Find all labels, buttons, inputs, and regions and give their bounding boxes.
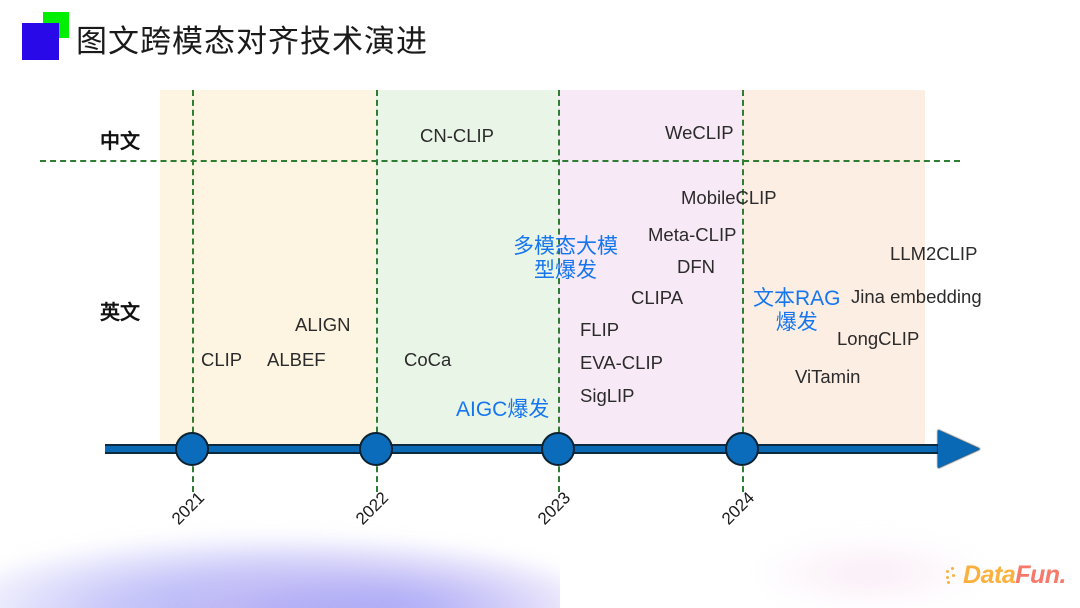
milestone-annotation: 多模态大模型爆发	[513, 235, 618, 282]
model-label: CoCa	[404, 351, 451, 370]
era-2024-plus	[742, 90, 925, 446]
model-label: CLIPA	[631, 289, 683, 308]
model-label: WeCLIP	[665, 124, 734, 143]
year-label-2023: 2023	[534, 488, 575, 529]
model-label: LongCLIP	[837, 330, 919, 349]
model-label: LLM2CLIP	[890, 245, 977, 264]
model-label: Meta-CLIP	[648, 226, 736, 245]
decorative-gradient-wave	[0, 518, 560, 608]
brand-squares-logo	[18, 12, 76, 58]
datafun-logo: Data Fun.	[946, 561, 1066, 590]
milestone-annotation: AIGC爆发	[456, 398, 549, 422]
model-label: SigLIP	[580, 387, 635, 406]
timeline-node-2024[interactable]	[725, 432, 759, 466]
slide-canvas: 图文跨模态对齐技术演进 中文 英文 CN-CLIPWeCLIPCLIPALIGN…	[0, 0, 1080, 608]
model-label: CN-CLIP	[420, 127, 494, 146]
year-label-2022: 2022	[352, 488, 393, 529]
model-label: ViTamin	[795, 368, 860, 387]
model-label: ALBEF	[267, 351, 326, 370]
page-title: 图文跨模态对齐技术演进	[76, 16, 428, 61]
row-divider-line	[40, 160, 960, 162]
year-label-2024: 2024	[718, 488, 759, 529]
model-label: ALIGN	[295, 316, 351, 335]
timeline-node-2021[interactable]	[175, 432, 209, 466]
model-label: DFN	[677, 258, 715, 277]
datafun-fun-text: Fun.	[1015, 561, 1066, 590]
datafun-dots-icon	[946, 567, 962, 585]
datafun-data-text: Data	[963, 561, 1015, 590]
model-label: MobileCLIP	[681, 189, 777, 208]
model-label: CLIP	[201, 351, 242, 370]
timeline-axis	[105, 444, 943, 454]
model-label: Jina embedding	[851, 288, 982, 307]
timeline-node-2022[interactable]	[359, 432, 393, 466]
model-label: EVA-CLIP	[580, 354, 663, 373]
timeline-arrow-icon	[938, 430, 980, 468]
milestone-annotation: 文本RAG爆发	[753, 287, 841, 334]
row-label-english: 英文	[100, 296, 140, 325]
row-label-chinese: 中文	[100, 125, 140, 154]
timeline-node-2023[interactable]	[541, 432, 575, 466]
year-label-2021: 2021	[168, 488, 209, 529]
blue-square-icon	[22, 23, 59, 60]
model-label: FLIP	[580, 321, 619, 340]
